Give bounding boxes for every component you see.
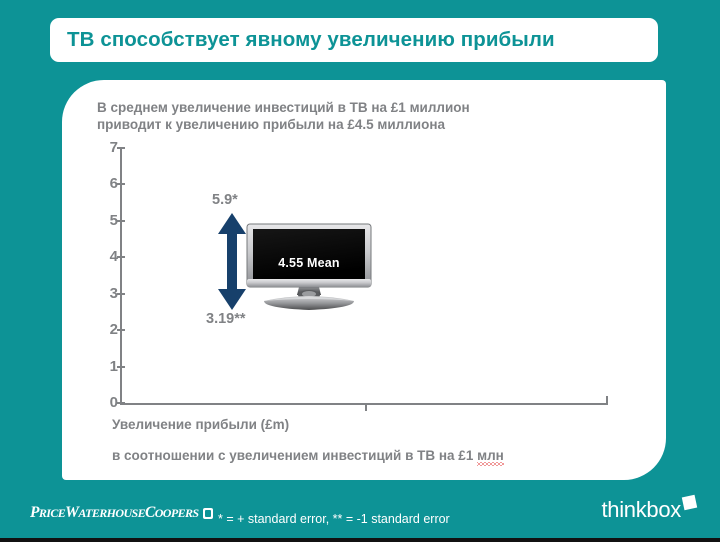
x-axis-caption-line-2-text: в соотношении с увеличением инвестиций в… — [112, 448, 477, 463]
pwc-square-mark-icon — [203, 508, 213, 519]
y-tick-mark-7 — [117, 147, 125, 149]
y-tick-0: 0 — [88, 398, 118, 408]
page-title: ТВ способствует явному увеличению прибыл… — [50, 28, 555, 52]
y-tick-mark-1 — [117, 366, 125, 368]
x-axis-line — [120, 403, 608, 405]
x-axis-caption-line-2: в соотношении с увеличением инвестиций в… — [112, 448, 504, 463]
y-tick-1: 1 — [88, 362, 118, 372]
y-tick-2: 2 — [88, 325, 118, 335]
y-tick-mark-5 — [117, 220, 125, 222]
y-tick-mark-6 — [117, 183, 125, 185]
y-tick-6: 6 — [88, 179, 118, 189]
y-tick-mark-2 — [117, 329, 125, 331]
chart-card: В среднем увеличение инвестиций в ТВ на … — [62, 80, 666, 480]
chart-plot-area: 7 6 5 4 3 2 1 — [62, 80, 666, 480]
bottom-strip — [0, 538, 720, 542]
error-lower-label: 3.19** — [206, 311, 246, 327]
pwc-logo: PRICEWATERHOUSECOOPERS — [30, 504, 213, 522]
x-tick-mark-mid — [365, 403, 367, 411]
television-icon: 4.55 Mean — [246, 223, 372, 313]
slide-canvas: ТВ способствует явному увеличению прибыл… — [0, 0, 720, 542]
thinkbox-wordmark: thinkbox — [601, 498, 681, 522]
x-tick-mark-start — [120, 396, 122, 404]
x-axis-caption-line-1: Увеличение прибыли (£m) — [112, 417, 289, 432]
x-tick-mark-end — [606, 396, 608, 404]
spellcheck-misspelled-word: млн — [477, 448, 504, 463]
slide-title-box: ТВ способствует явному увеличению прибыл… — [50, 18, 658, 62]
y-tick-3: 3 — [88, 289, 118, 299]
thinkbox-logo: thinkbox — [601, 498, 696, 522]
pwc-logo-text: PRICEWATERHOUSECOOPERS — [30, 504, 198, 522]
double-headed-arrow-icon — [217, 213, 247, 310]
thinkbox-square-icon — [682, 495, 697, 510]
y-tick-mark-3 — [117, 293, 125, 295]
y-tick-7: 7 — [88, 143, 118, 153]
y-tick-4: 4 — [88, 252, 118, 262]
error-upper-label: 5.9* — [212, 192, 238, 208]
y-tick-mark-4 — [117, 256, 125, 258]
footnote-text: * = + standard error, ** = -1 standard e… — [218, 512, 450, 526]
y-tick-5: 5 — [88, 216, 118, 226]
